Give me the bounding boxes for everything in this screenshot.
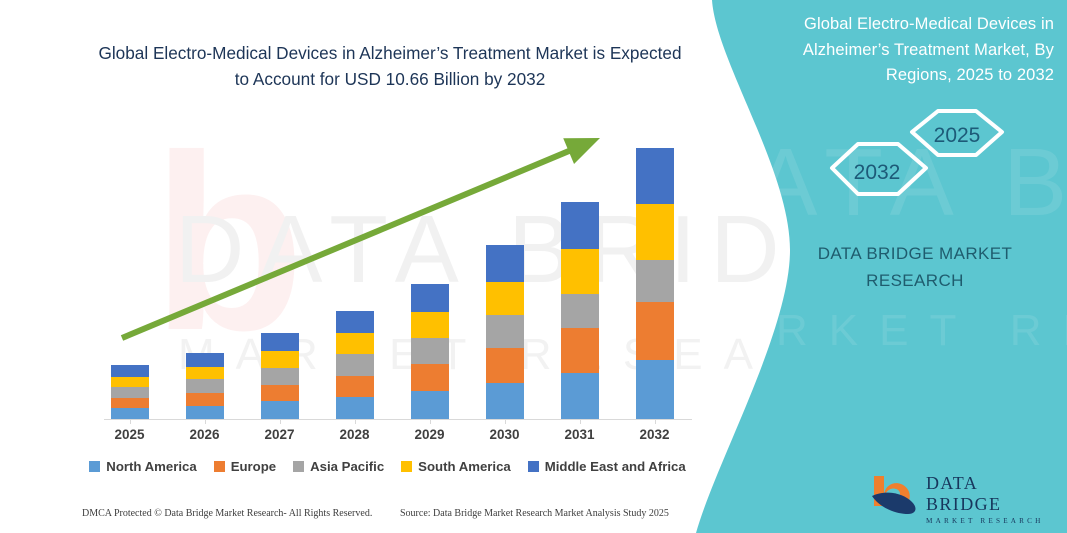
bar-segment bbox=[111, 365, 149, 377]
bar-segment bbox=[636, 260, 674, 302]
x-axis-tick bbox=[130, 420, 131, 424]
x-axis-tick bbox=[580, 420, 581, 424]
bar-segment bbox=[261, 385, 299, 401]
bar-segment bbox=[336, 333, 374, 354]
x-axis-label-2029: 2029 bbox=[400, 427, 460, 442]
hexagon-2025-label: 2025 bbox=[934, 124, 981, 147]
panel-brand-line2: RESEARCH bbox=[770, 267, 1060, 294]
x-axis-tick bbox=[355, 420, 356, 424]
bar-segment bbox=[111, 387, 149, 398]
bar-segment bbox=[561, 328, 599, 373]
bar-2032[interactable] bbox=[636, 148, 674, 419]
bar-segment bbox=[636, 148, 674, 204]
x-axis-labels: 20252026202720282029203020312032 bbox=[92, 427, 692, 447]
bar-segment bbox=[336, 354, 374, 376]
legend-item[interactable]: Middle East and Africa bbox=[528, 459, 686, 474]
bar-segment bbox=[186, 406, 224, 419]
chart-legend: North AmericaEuropeAsia PacificSouth Ame… bbox=[95, 459, 680, 474]
dbmr-logo: DATA BRIDGE MARKET RESEARCH bbox=[868, 472, 1048, 518]
bar-segment bbox=[261, 401, 299, 419]
panel-title: Global Electro-Medical Devices in Alzhei… bbox=[742, 12, 1054, 89]
x-axis-label-2028: 2028 bbox=[325, 427, 385, 442]
bar-2027[interactable] bbox=[261, 333, 299, 419]
bar-segment bbox=[486, 282, 524, 315]
bar-segment bbox=[111, 377, 149, 387]
x-axis-label-2025: 2025 bbox=[100, 427, 160, 442]
x-axis-tick bbox=[505, 420, 506, 424]
bar-2025[interactable] bbox=[111, 365, 149, 419]
legend-item[interactable]: South America bbox=[401, 459, 511, 474]
bar-segment bbox=[336, 397, 374, 419]
legend-item[interactable]: Asia Pacific bbox=[293, 459, 384, 474]
chart-plot-area bbox=[92, 120, 692, 420]
bar-segment bbox=[636, 204, 674, 260]
footer-source: Source: Data Bridge Market Research Mark… bbox=[400, 508, 669, 519]
x-axis-label-2026: 2026 bbox=[175, 427, 235, 442]
bar-segment bbox=[636, 360, 674, 419]
legend-swatch-icon bbox=[528, 461, 539, 472]
bar-segment bbox=[486, 245, 524, 282]
legend-label: South America bbox=[418, 459, 511, 474]
year-hexagons: 2025 2032 bbox=[820, 98, 1020, 210]
bar-segment bbox=[411, 391, 449, 419]
bar-segment bbox=[111, 408, 149, 419]
x-axis-tick bbox=[205, 420, 206, 424]
bar-segment bbox=[336, 311, 374, 333]
bar-segment bbox=[486, 383, 524, 419]
footer: DMCA Protected © Data Bridge Market Rese… bbox=[0, 508, 700, 526]
bar-2031[interactable] bbox=[561, 202, 599, 419]
bar-segment bbox=[561, 249, 599, 294]
x-axis-tick bbox=[430, 420, 431, 424]
bar-segment bbox=[411, 284, 449, 312]
panel-brand-name: DATA BRIDGE MARKET RESEARCH bbox=[770, 240, 1060, 294]
bar-segment bbox=[261, 351, 299, 368]
bar-segment bbox=[186, 353, 224, 367]
bar-segment bbox=[186, 393, 224, 406]
legend-label: Asia Pacific bbox=[310, 459, 384, 474]
logo-subtitle: MARKET RESEARCH bbox=[926, 517, 1048, 525]
legend-swatch-icon bbox=[401, 461, 412, 472]
hexagon-2032-label: 2032 bbox=[854, 161, 901, 184]
bar-2026[interactable] bbox=[186, 353, 224, 419]
legend-label: Europe bbox=[231, 459, 276, 474]
logo-title: DATA BRIDGE bbox=[926, 473, 1048, 515]
bar-segment bbox=[261, 333, 299, 351]
bar-2030[interactable] bbox=[486, 245, 524, 419]
legend-swatch-icon bbox=[214, 461, 225, 472]
legend-swatch-icon bbox=[293, 461, 304, 472]
bar-segment bbox=[486, 315, 524, 348]
bar-segment bbox=[411, 338, 449, 364]
x-axis-label-2032: 2032 bbox=[625, 427, 685, 442]
bar-2029[interactable] bbox=[411, 284, 449, 419]
legend-label: North America bbox=[106, 459, 196, 474]
bar-segment bbox=[336, 376, 374, 397]
x-axis-line bbox=[104, 419, 692, 420]
x-axis-label-2031: 2031 bbox=[550, 427, 610, 442]
svg-text:MARKET RESEARCH: MARKET RESEARCH bbox=[680, 306, 1067, 355]
legend-item[interactable]: North America bbox=[89, 459, 196, 474]
footer-copyright: DMCA Protected © Data Bridge Market Rese… bbox=[82, 508, 372, 519]
bar-segment bbox=[261, 368, 299, 385]
bar-segment bbox=[561, 202, 599, 249]
legend-swatch-icon bbox=[89, 461, 100, 472]
page-title: Global Electro-Medical Devices in Alzhei… bbox=[95, 40, 685, 92]
infographic-root: b DATA BRIDGE MARKET RESEARCH Global Ele… bbox=[0, 0, 1067, 533]
legend-label: Middle East and Africa bbox=[545, 459, 686, 474]
bar-segment bbox=[411, 364, 449, 391]
bar-segment bbox=[636, 302, 674, 360]
bar-2028[interactable] bbox=[336, 311, 374, 419]
x-axis-label-2030: 2030 bbox=[475, 427, 535, 442]
bar-segment bbox=[111, 398, 149, 408]
bar-segment bbox=[561, 294, 599, 328]
x-axis-tick bbox=[280, 420, 281, 424]
bar-segment bbox=[186, 379, 224, 393]
stacked-bar-chart bbox=[92, 120, 692, 420]
dbmr-logo-text: DATA BRIDGE MARKET RESEARCH bbox=[926, 473, 1048, 525]
bar-segment bbox=[561, 373, 599, 419]
dbmr-logo-mark bbox=[868, 472, 922, 516]
x-axis-tick bbox=[655, 420, 656, 424]
x-axis-label-2027: 2027 bbox=[250, 427, 310, 442]
bar-segment bbox=[486, 348, 524, 383]
legend-item[interactable]: Europe bbox=[214, 459, 276, 474]
panel-brand-line1: DATA BRIDGE MARKET bbox=[770, 240, 1060, 267]
bar-segment bbox=[411, 312, 449, 338]
bar-segment bbox=[186, 367, 224, 379]
